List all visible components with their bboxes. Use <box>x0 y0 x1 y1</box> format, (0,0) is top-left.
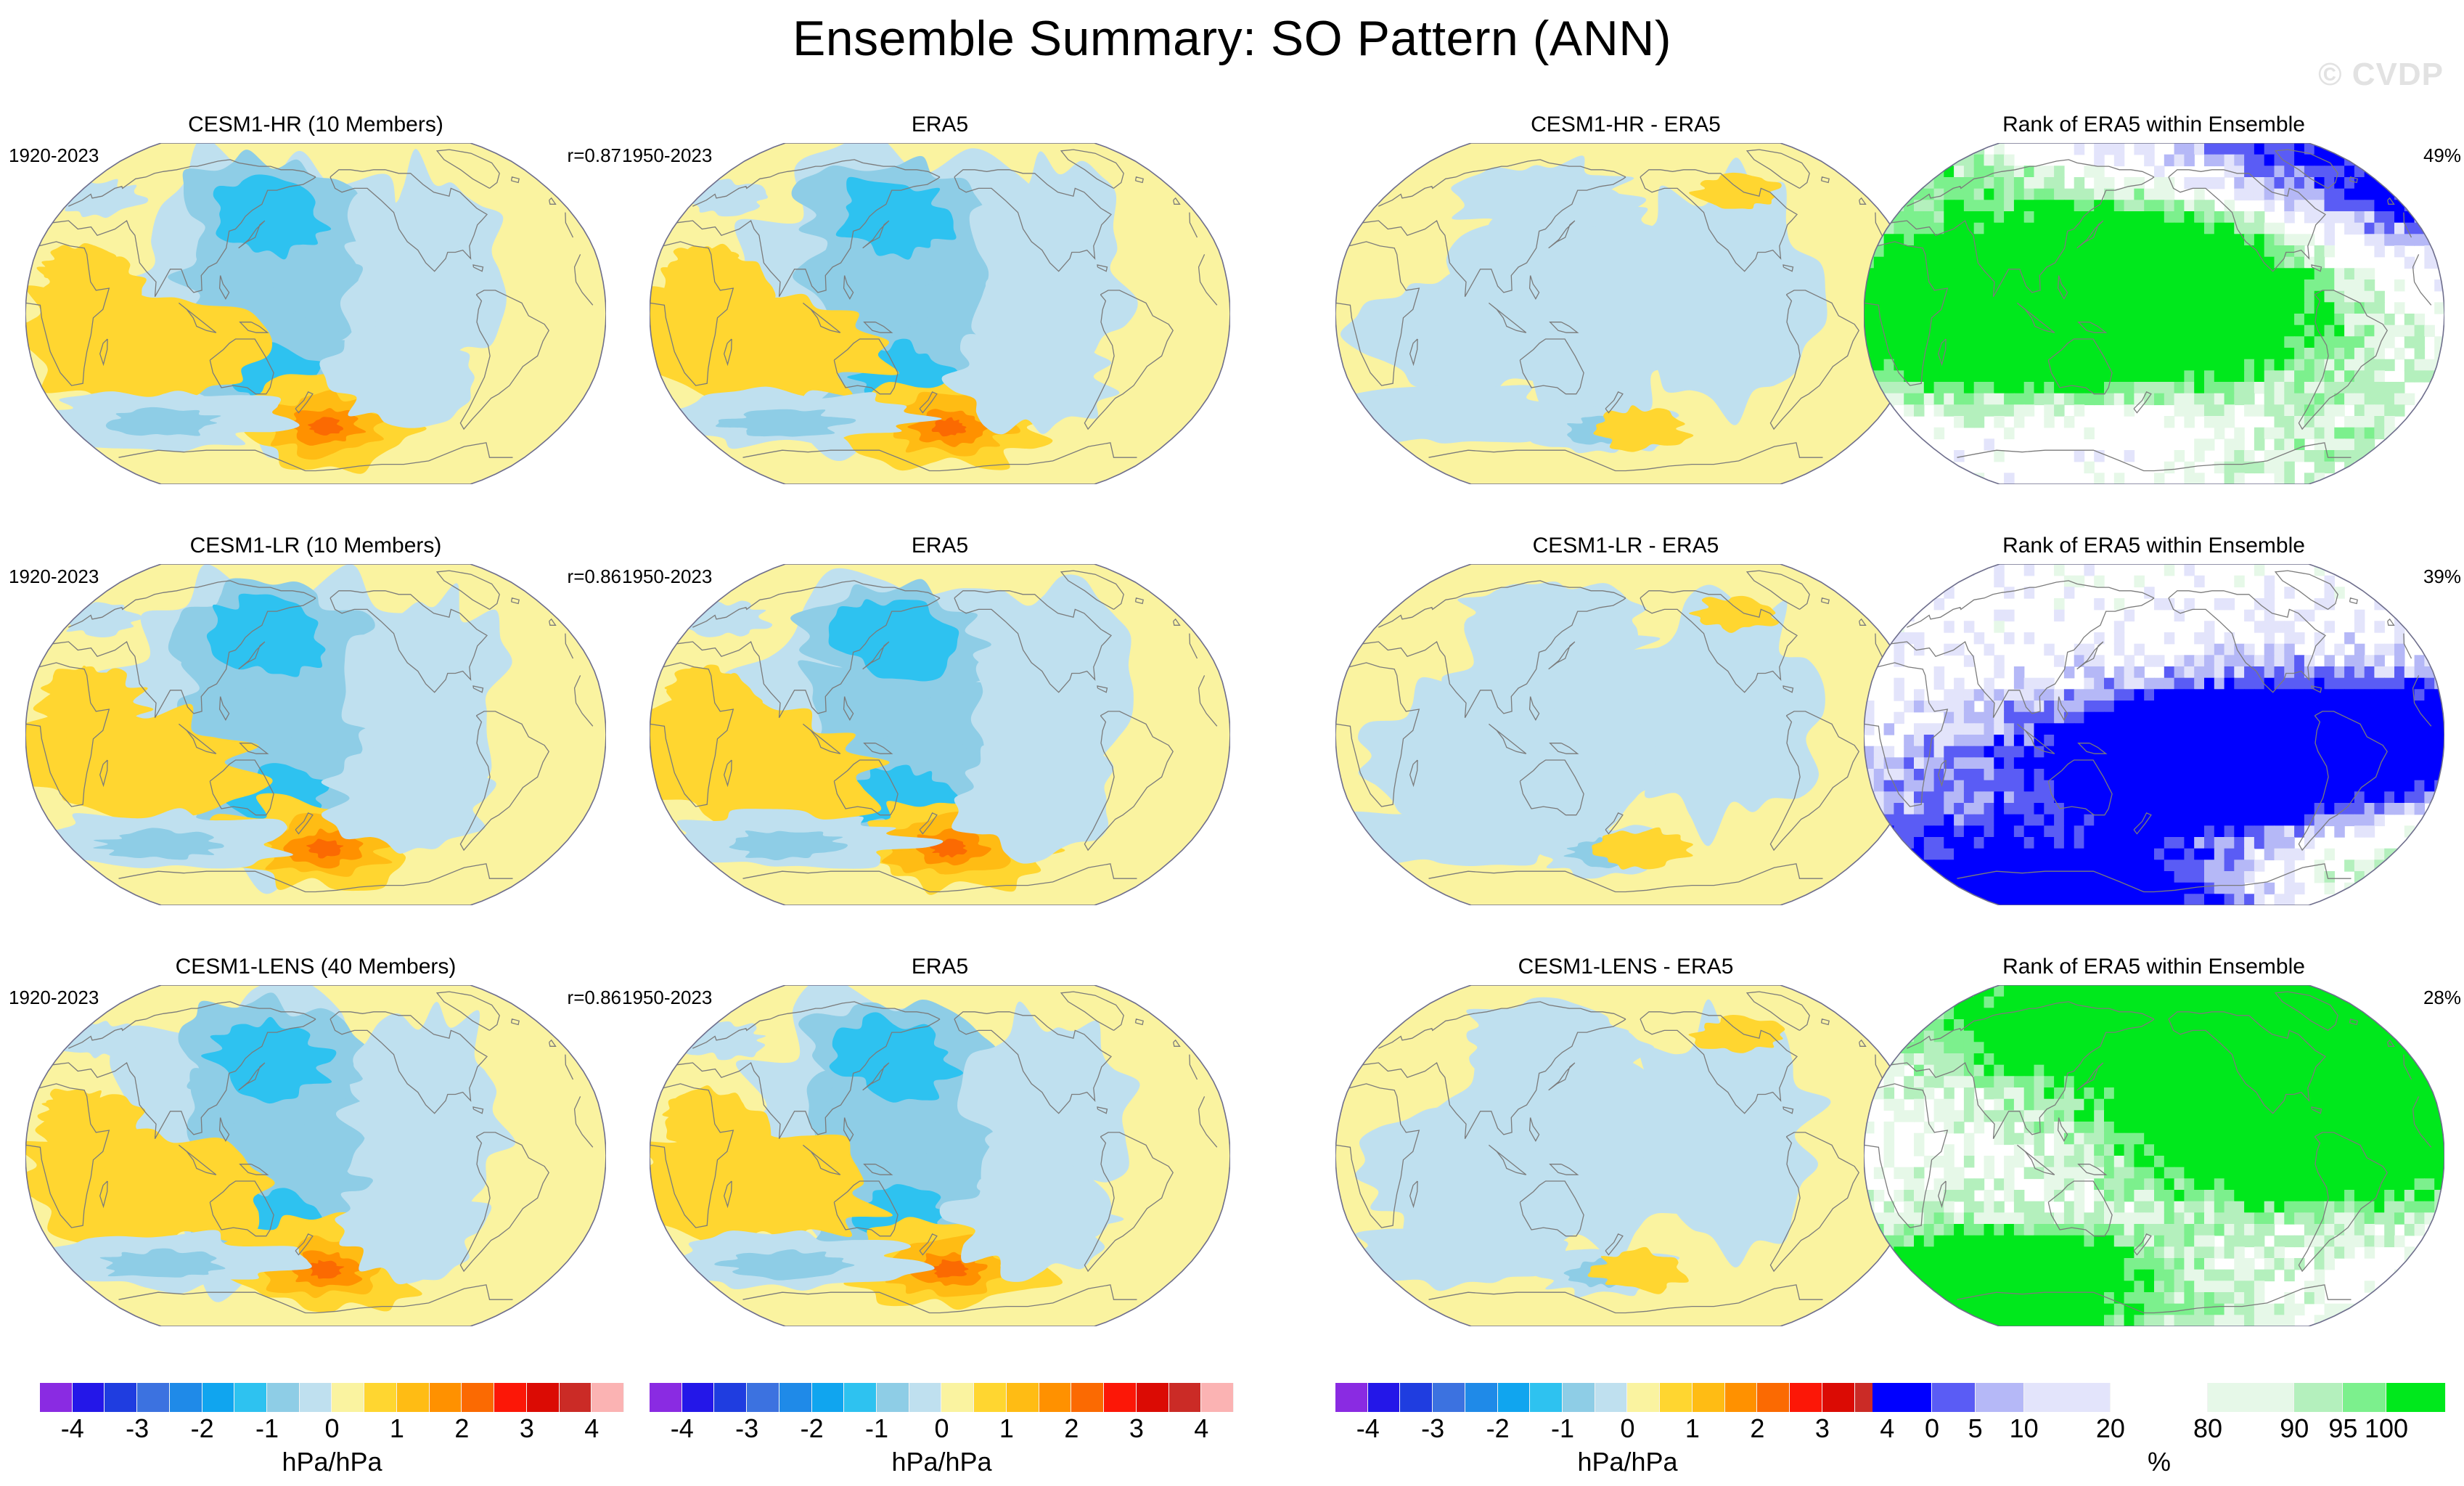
colorbar-tick-label: 0 <box>1925 1413 1939 1444</box>
colorbar-strip <box>40 1383 624 1412</box>
panel-title: CESM1-HR (10 Members) <box>7 113 624 137</box>
colorbar-swatch <box>462 1383 494 1412</box>
map-era5-row1 <box>650 143 1230 484</box>
colorbar-tick-label: -1 <box>1551 1413 1574 1444</box>
map-rank-of-era5-row2 <box>1864 564 2444 905</box>
colorbar-strip <box>1872 1383 2446 1412</box>
colorbar-swatch <box>560 1383 592 1412</box>
colorbar-tick-label: 3 <box>520 1413 534 1444</box>
colorbar-swatch <box>1039 1383 1072 1412</box>
colorbar-swatch <box>430 1383 462 1412</box>
panel-era5-row3: ERA51950-2023 <box>621 955 1259 1332</box>
colorbar-tick-label: 20 <box>2096 1413 2125 1444</box>
colorbar-tick-label: -1 <box>865 1413 888 1444</box>
colorbar-swatch <box>1976 1383 2024 1412</box>
colorbar-ticks: 051020809095100 <box>1872 1413 2446 1445</box>
colorbar-swatch <box>332 1383 364 1412</box>
colorbar-swatch <box>592 1383 624 1412</box>
colorbar-tick-label: -4 <box>1356 1413 1380 1444</box>
colorbar-tick-label: 0 <box>934 1413 949 1444</box>
colorbar-tick-label: -3 <box>1421 1413 1444 1444</box>
colorbar-strip <box>650 1383 1234 1412</box>
colorbar-swatch <box>974 1383 1007 1412</box>
colorbar-swatch <box>397 1383 430 1412</box>
colorbar-tick-label: 90 <box>2280 1413 2309 1444</box>
panel-era5-row1: ERA51950-2023 <box>621 113 1259 490</box>
colorbar-swatch <box>909 1383 942 1412</box>
panel-cesm1-lens-ensemble-mean: CESM1-LENS (40 Members)1920-2023r=0.86 <box>7 955 624 1332</box>
map-era5-row2 <box>650 564 1230 905</box>
colorbar-swatch <box>1498 1383 1531 1412</box>
colorbar-strip <box>1335 1383 1920 1412</box>
colorbar-swatch <box>650 1383 682 1412</box>
colorbar-swatch <box>1693 1383 1725 1412</box>
panel-title: Rank of ERA5 within Ensemble <box>1843 113 2464 137</box>
map-era5-row3 <box>650 985 1230 1326</box>
panel-rank-of-era5-row3: Rank of ERA5 within Ensemble28% <box>1843 955 2464 1332</box>
colorbar-tick-label: 4 <box>584 1413 599 1444</box>
colorbar-tick-label: 0 <box>1620 1413 1634 1444</box>
colorbar-swatch <box>1627 1383 1660 1412</box>
colorbar-tick-label: -3 <box>735 1413 758 1444</box>
colorbar-swatch <box>1872 1383 1932 1412</box>
colorbar-tick-label: 2 <box>454 1413 469 1444</box>
colorbar-swatch <box>2024 1383 2111 1412</box>
colorbar-swatch <box>1071 1383 1104 1412</box>
colorbar-swatch <box>2294 1383 2343 1412</box>
colorbar-tick-label: -2 <box>1486 1413 1510 1444</box>
colorbar-swatch <box>2208 1383 2294 1412</box>
colorbar-tick-label: -3 <box>126 1413 149 1444</box>
map-rank-of-era5-row1 <box>1864 143 2444 484</box>
colorbar-swatch <box>170 1383 202 1412</box>
colorbar-unit-label: % <box>1872 1447 2446 1477</box>
colorbar-unit-label: hPa/hPa <box>40 1447 624 1477</box>
colorbar-swatch <box>105 1383 137 1412</box>
map-cesm1-hr-ensemble-mean <box>25 143 606 484</box>
colorbar-tick-label: 80 <box>2193 1413 2222 1444</box>
colorbar-tick-label: 3 <box>1815 1413 1830 1444</box>
panel-title: Rank of ERA5 within Ensemble <box>1843 955 2464 979</box>
colorbar-tick-label: 95 <box>2328 1413 2357 1444</box>
colorbar-swatch <box>1335 1383 1368 1412</box>
colorbar-tick-label: 1 <box>999 1413 1014 1444</box>
colorbar-tick-label: 0 <box>324 1413 339 1444</box>
colorbar-tick-label: 10 <box>2010 1413 2039 1444</box>
colorbar-swatch <box>1530 1383 1563 1412</box>
colorbar-ticks: -4-3-2-101234 <box>1335 1413 1920 1445</box>
cvdp-watermark: © CVDP <box>2318 57 2444 93</box>
colorbar-swatch <box>877 1383 909 1412</box>
colorbar-tick-label: 5 <box>1968 1413 1983 1444</box>
panel-title: CESM1-LENS (40 Members) <box>7 955 624 979</box>
colorbar-swatch <box>40 1383 73 1412</box>
colorbar-ticks: -4-3-2-101234 <box>40 1413 624 1445</box>
colorbar-tick-label: 2 <box>1064 1413 1078 1444</box>
panel-title: ERA5 <box>621 955 1259 979</box>
colorbar-tick-label: -4 <box>671 1413 694 1444</box>
colorbar-unit-label: hPa/hPa <box>650 1447 1234 1477</box>
colorbar-swatch <box>1563 1383 1595 1412</box>
colorbar-swatch <box>1433 1383 1465 1412</box>
colorbar-tick-label: 1 <box>390 1413 404 1444</box>
colorbar-swatch <box>300 1383 332 1412</box>
map-cesm1-hr-minus-era5 <box>1335 143 1916 484</box>
colorbar-swatch <box>812 1383 845 1412</box>
colorbar-swatch <box>682 1383 715 1412</box>
colorbar-tick-label: 100 <box>2365 1413 2408 1444</box>
figure-root: Ensemble Summary: SO Pattern (ANN) © CVD… <box>0 0 2464 1486</box>
panel-rank-of-era5-row2: Rank of ERA5 within Ensemble39% <box>1843 534 2464 911</box>
colorbar-tick-label: -2 <box>801 1413 824 1444</box>
page-title: Ensemble Summary: SO Pattern (ANN) <box>0 10 2464 67</box>
colorbar-tick-label: 1 <box>1685 1413 1700 1444</box>
colorbar-swatch <box>1932 1383 1976 1412</box>
colorbar-swatch <box>2386 1383 2446 1412</box>
colorbar-swatch <box>1790 1383 1822 1412</box>
colorbar-swatch <box>527 1383 560 1412</box>
colorbar-swatch <box>1104 1383 1137 1412</box>
colorbar-swatch <box>494 1383 527 1412</box>
panel-cesm1-lr-ensemble-mean: CESM1-LR (10 Members)1920-2023r=0.86 <box>7 534 624 911</box>
map-cesm1-lr-ensemble-mean <box>25 564 606 905</box>
map-cesm1-lr-minus-era5 <box>1335 564 1916 905</box>
colorbar-tick-label: -1 <box>255 1413 279 1444</box>
colorbar-unit-label: hPa/hPa <box>1335 1447 1920 1477</box>
map-cesm1-lens-minus-era5 <box>1335 985 1916 1326</box>
colorbar-tick-label: 3 <box>1129 1413 1144 1444</box>
colorbar-swatch <box>1725 1383 1758 1412</box>
colorbar-swatch <box>1007 1383 1039 1412</box>
panel-title: CESM1-LR (10 Members) <box>7 534 624 558</box>
panel-era5-row2: ERA51950-2023 <box>621 534 1259 911</box>
colorbar-swatch <box>137 1383 170 1412</box>
colorbar-swatch <box>779 1383 812 1412</box>
panel-title: Rank of ERA5 within Ensemble <box>1843 534 2464 558</box>
colorbar-swatch <box>941 1383 974 1412</box>
colorbar-swatch <box>1169 1383 1202 1412</box>
colorbar-swatch <box>364 1383 397 1412</box>
colorbar-swatch <box>1400 1383 1433 1412</box>
colorbar-swatch <box>844 1383 877 1412</box>
colorbar-tick-label: 4 <box>1194 1413 1208 1444</box>
colorbar-swatch <box>1137 1383 1169 1412</box>
colorbar-swatch <box>2343 1383 2386 1412</box>
colorbar-tick-label: -4 <box>61 1413 84 1444</box>
colorbar-swatch <box>267 1383 300 1412</box>
colorbar-swatch <box>1757 1383 1790 1412</box>
panel-cesm1-hr-ensemble-mean: CESM1-HR (10 Members)1920-2023r=0.87 <box>7 113 624 490</box>
colorbar-swatch <box>73 1383 105 1412</box>
panel-title: ERA5 <box>621 113 1259 137</box>
colorbar-swatch <box>1660 1383 1693 1412</box>
colorbar-swatch <box>1368 1383 1401 1412</box>
colorbar-tick-label: -2 <box>191 1413 214 1444</box>
colorbar-swatch <box>747 1383 779 1412</box>
colorbar-ticks: -4-3-2-101234 <box>650 1413 1234 1445</box>
colorbar-swatch <box>2111 1383 2208 1412</box>
colorbar-swatch <box>1595 1383 1628 1412</box>
colorbar-swatch <box>1201 1383 1234 1412</box>
colorbar-swatch <box>234 1383 267 1412</box>
colorbar-swatch <box>1822 1383 1855 1412</box>
colorbar-swatch <box>1465 1383 1498 1412</box>
panel-rank-of-era5-row1: Rank of ERA5 within Ensemble49% <box>1843 113 2464 490</box>
colorbar-swatch <box>202 1383 235 1412</box>
map-rank-of-era5-row3 <box>1864 985 2444 1326</box>
colorbar-swatch <box>714 1383 747 1412</box>
map-cesm1-lens-ensemble-mean <box>25 985 606 1326</box>
panel-title: ERA5 <box>621 534 1259 558</box>
colorbar-tick-label: 2 <box>1750 1413 1764 1444</box>
